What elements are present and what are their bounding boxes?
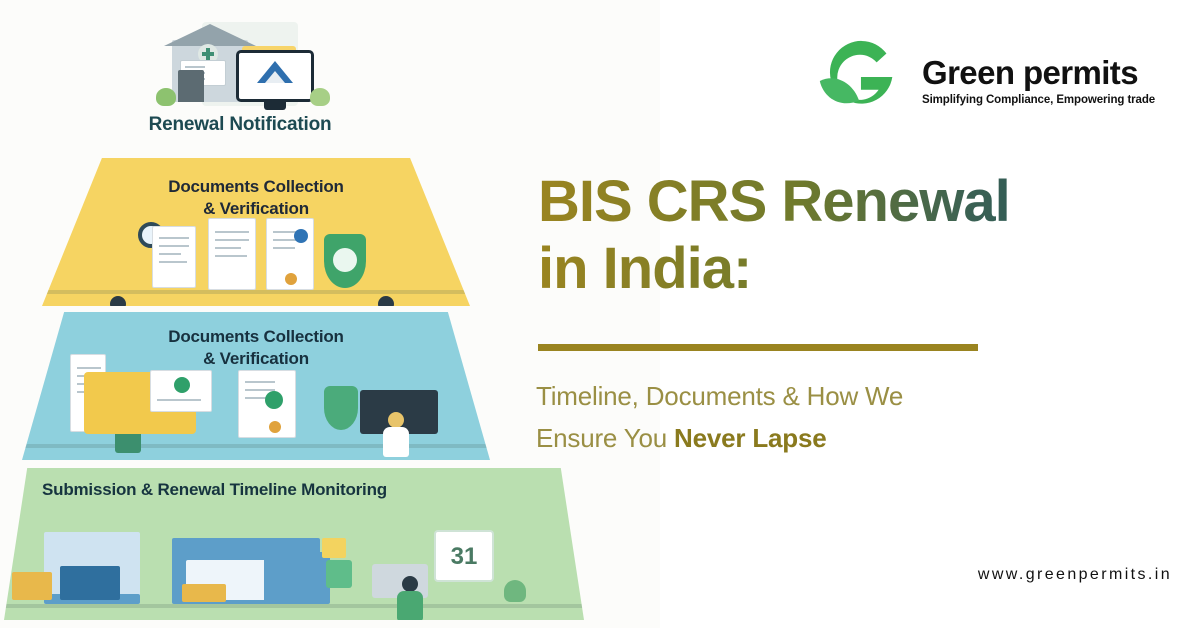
tier-label-line1: Documents Collection — [168, 177, 343, 196]
page-subtitle-emphasis: Never Lapse — [674, 423, 826, 453]
page-title-line1: BIS CRS Renewal — [538, 169, 1010, 234]
document-certificate-icon — [266, 218, 314, 290]
ground-line — [4, 604, 584, 608]
tier-label-renewal-notification: Renewal Notification — [30, 114, 450, 136]
ground-line — [42, 290, 470, 294]
checklist-icon — [326, 560, 352, 588]
warehouse-door-icon — [60, 566, 120, 600]
page-subtitle-line2-prefix: Ensure You — [536, 423, 674, 453]
document-certificate-icon — [238, 370, 296, 438]
page-subtitle: Timeline, Documents & How We Ensure You … — [536, 375, 1096, 459]
tier-label-line1: Documents Collection — [168, 327, 343, 346]
pyramid-tier-submission-monitoring: Submission & Renewal Timeline Monitoring… — [4, 468, 584, 620]
brand-name: Green permits — [922, 56, 1155, 89]
brand-tagline: Simplifying Compliance, Empowering trade — [922, 94, 1155, 106]
ground-line — [22, 444, 490, 448]
roof-icon — [164, 24, 256, 46]
page-title-line2: in India: — [538, 236, 751, 301]
monitor-stand-icon — [264, 102, 286, 110]
green-g-leaf-logo-icon — [810, 30, 908, 128]
tier-label-line2: & Verification — [203, 349, 309, 368]
tier-label-submission-monitoring: Submission & Renewal Timeline Monitoring — [4, 480, 584, 500]
bush-icon — [310, 88, 330, 106]
tier-label-documents-verification-yellow: Documents Collection & Verification — [42, 176, 470, 220]
sticky-note-icon — [322, 538, 346, 558]
pyramid-tier-documents-verification-blue: Documents Collection & Verification — [22, 312, 490, 460]
title-divider — [538, 344, 978, 351]
bush-icon — [156, 88, 176, 106]
plant-icon — [504, 580, 526, 602]
document-icon — [152, 226, 196, 288]
brand-logo: Green permits Simplifying Compliance, Em… — [810, 30, 1155, 128]
calendar-icon: 31 — [434, 530, 494, 582]
page-title: BIS CRS Renewal in India: — [538, 168, 1158, 303]
tier-label-line2: & Verification — [203, 199, 309, 218]
page-subtitle-line1: Timeline, Documents & How We — [536, 381, 903, 411]
cargo-boxes-icon — [12, 572, 52, 600]
document-icon — [208, 218, 256, 290]
pyramid-tier-documents-verification-yellow: Documents Collection & Verification — [42, 158, 470, 306]
pyramid-tier-renewal-notification: Renewal Notification — [30, 18, 450, 148]
document-download-icon — [150, 370, 212, 412]
monitor-icon — [236, 50, 314, 102]
pyramid-illustration: Renewal Notification Documents Collectio… — [0, 0, 660, 628]
warehouse-side-icon — [264, 552, 330, 604]
calendar-day: 31 — [451, 543, 478, 570]
verified-shield-icon — [324, 234, 366, 288]
renewal-notification-scene — [150, 18, 340, 110]
verified-shield-icon — [324, 386, 358, 430]
brand-text: Green permits Simplifying Compliance, Em… — [922, 52, 1155, 106]
website-url[interactable]: www.greenpermits.in — [978, 566, 1172, 584]
cargo-boxes-icon — [182, 584, 226, 602]
monitor-graphic-inner-icon — [265, 71, 285, 83]
door-icon — [178, 70, 204, 102]
